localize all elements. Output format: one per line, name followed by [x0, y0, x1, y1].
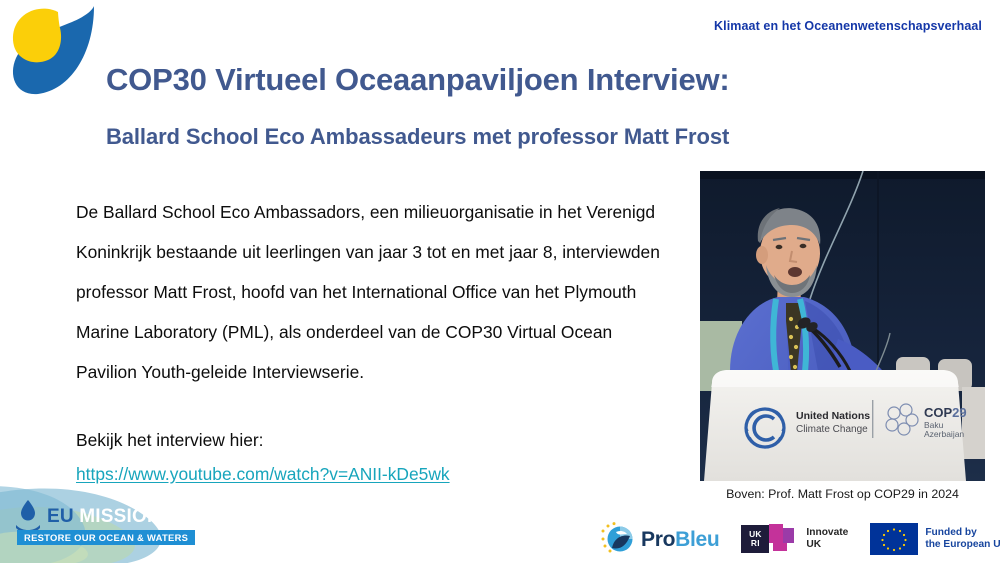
innovate-uk-wordmark: Innovate UK — [806, 527, 848, 551]
speaker-photo: United Nations Climate Change COP29 Baku… — [700, 171, 985, 481]
eu-missions-word-eu: EU — [47, 506, 74, 527]
ukri-line2: RI — [751, 539, 760, 548]
funded-by-eu-logo: Funded by the European Union — [870, 518, 1000, 560]
podium-unfccc-line2: Climate Change — [796, 424, 868, 435]
eu-missions-tagline: RESTORE OUR OCEAN & WATERS — [17, 530, 195, 545]
podium-cop-label: COP29 — [924, 405, 967, 420]
eu-flag-icon — [870, 523, 918, 555]
body-paragraph: De Ballard School Eco Ambassadors, een m… — [76, 192, 676, 392]
photo-caption: Boven: Prof. Matt Frost op COP29 in 2024 — [700, 487, 985, 501]
probleu-word-bleu: Bleu — [675, 528, 719, 551]
footer-logo-strip: ProBleu UK RI Innovate UK — [600, 518, 1000, 560]
speaker-photo-svg: United Nations Climate Change COP29 Baku… — [700, 171, 985, 481]
body-paragraph-text: De Ballard School Eco Ambassadors, een m… — [76, 192, 676, 392]
page-kicker: Klimaat en het Oceanenwetenschapsverhaal — [714, 19, 982, 33]
ukri-mark: UK RI — [741, 524, 799, 554]
eu-missions-word-missions: MISSIONS — [79, 506, 174, 527]
ocean-leaf-logo-svg — [6, 2, 110, 106]
innovate-uk-line1: Innovate — [806, 527, 848, 539]
probleu-logo: ProBleu — [600, 518, 719, 560]
cta-text: Bekijk het interview hier: — [76, 420, 264, 460]
probleu-wordmark: ProBleu — [641, 529, 719, 550]
ocean-leaf-logo — [6, 2, 110, 106]
innovate-uk-blocks — [769, 524, 799, 554]
page-title: COP30 Virtueel Oceaanpaviljoen Interview… — [106, 62, 730, 98]
podium-unfccc-line1: United Nations — [796, 410, 870, 422]
eu-flag-stars — [870, 523, 918, 555]
leaf-yellow-shape — [13, 9, 61, 63]
youtube-link[interactable]: https://www.youtube.com/watch?v=ANII-kDe… — [76, 459, 450, 489]
probleu-globe-icon — [600, 522, 634, 556]
innovate-uk-line2: UK — [806, 539, 848, 551]
eu-missions-logo: EU MISSIONS RESTORE OUR OCEAN & WATERS — [0, 486, 205, 563]
funded-by-eu-line1: Funded by — [925, 527, 1000, 540]
probleu-word-pro: Pro — [641, 528, 675, 551]
eu-missions-wordmark: EU MISSIONS — [47, 506, 174, 528]
funded-by-eu-wordmark: Funded by the European Union — [925, 527, 1000, 552]
funded-by-eu-line2: the European Union — [925, 539, 1000, 552]
innovate-uk-logo: UK RI Innovate UK — [741, 518, 848, 560]
ukri-square: UK RI — [741, 525, 769, 553]
podium-cop-country: Azerbaijan — [924, 429, 964, 439]
page-subtitle: Ballard School Eco Ambassadeurs met prof… — [106, 124, 729, 150]
